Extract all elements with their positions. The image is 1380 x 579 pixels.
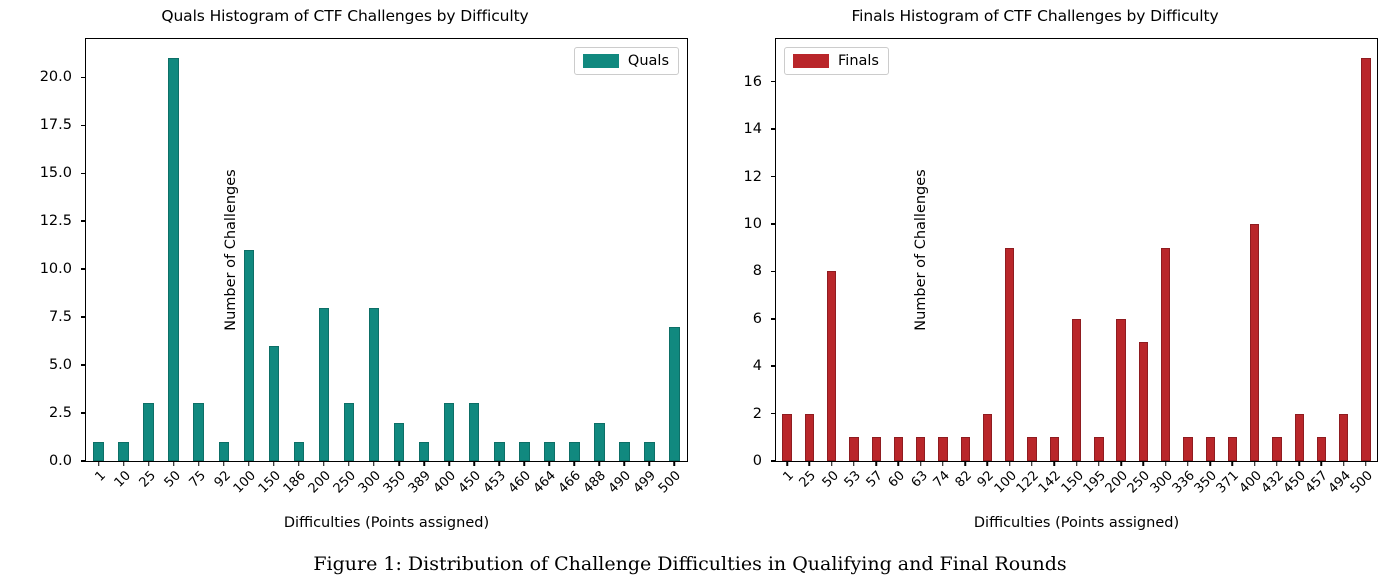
bar-slot [662, 39, 687, 461]
bar-slot [462, 39, 487, 461]
xtick-mark [1321, 461, 1323, 466]
bar-slot [1132, 39, 1154, 461]
xtick-label-quals-186: 186 [281, 469, 308, 496]
bar-finals-450 [1295, 414, 1304, 461]
bar-slot [562, 39, 587, 461]
bar-slot [1177, 39, 1199, 461]
legend-label-quals: Quals [628, 53, 669, 69]
xtick-label-finals-53: 53 [842, 469, 864, 491]
bar-finals-336 [1183, 437, 1192, 461]
xtick-label-quals-500: 500 [657, 469, 684, 496]
xtick-label-quals-1: 1 [93, 469, 109, 485]
xtick-mark [549, 461, 551, 466]
xtick-label-finals-60: 60 [887, 469, 909, 491]
bar-quals-500 [669, 327, 680, 461]
bar-quals-464 [544, 442, 555, 461]
bar-quals-490 [619, 442, 630, 461]
xtick-label-quals-300: 300 [356, 469, 383, 496]
bar-finals-500 [1361, 58, 1370, 461]
xtick-mark [1165, 461, 1167, 466]
xtick-label-finals-74: 74 [931, 469, 953, 491]
panel-quals: Quals Histogram of CTF Challenges by Dif… [0, 0, 690, 545]
xtick-label-quals-460: 460 [507, 469, 534, 496]
xtick-mark [523, 461, 525, 466]
xtick-mark [1254, 461, 1256, 466]
bar-finals-432 [1272, 437, 1281, 461]
bar-quals-499 [644, 442, 655, 461]
xtick-mark [448, 461, 450, 466]
bar-slot [1310, 39, 1332, 461]
xtick-label-quals-464: 464 [532, 469, 559, 496]
panel-finals-title: Finals Histogram of CTF Challenges by Di… [690, 6, 1380, 26]
bar-slot [1266, 39, 1288, 461]
bar-slot [1288, 39, 1310, 461]
xtick-mark [574, 461, 576, 466]
bar-quals-488 [594, 423, 605, 461]
xtick-mark [599, 461, 601, 466]
xtick-label-quals-450: 450 [457, 469, 484, 496]
xtick-label-finals-63: 63 [909, 469, 931, 491]
bar-slot [1333, 39, 1355, 461]
xtick-mark [1143, 461, 1145, 466]
xlabel-finals: Difficulties (Points assigned) [775, 514, 1378, 532]
bar-finals-250 [1139, 342, 1148, 461]
bar-slot [512, 39, 537, 461]
xtick-label-quals-50: 50 [162, 469, 184, 491]
xtick-label-quals-488: 488 [582, 469, 609, 496]
figure-container: Quals Histogram of CTF Challenges by Dif… [0, 0, 1380, 579]
panel-quals-title: Quals Histogram of CTF Challenges by Dif… [0, 6, 690, 26]
bar-slot [1155, 39, 1177, 461]
xtick-label-finals-50: 50 [820, 469, 842, 491]
xtick-label-finals-1: 1 [781, 469, 797, 485]
bar-finals-371 [1228, 437, 1237, 461]
bar-slot [487, 39, 512, 461]
xtick-label-quals-75: 75 [187, 469, 209, 491]
bar-slot [1199, 39, 1221, 461]
bar-slot [612, 39, 637, 461]
bar-slot [537, 39, 562, 461]
xtick-mark [674, 461, 676, 466]
bar-finals-350 [1206, 437, 1215, 461]
bar-quals-450 [469, 403, 480, 461]
legend-swatch-quals [583, 54, 619, 68]
xtick-label-quals-389: 389 [407, 469, 434, 496]
xtick-label-quals-92: 92 [212, 469, 234, 491]
xtick-mark [473, 461, 475, 466]
xtick-label-quals-490: 490 [607, 469, 634, 496]
ylabel-quals: Number of Challenges [19, 38, 443, 462]
xtick-mark [1276, 461, 1278, 466]
xtick-mark [1343, 461, 1345, 466]
bar-quals-453 [494, 442, 505, 461]
xtick-mark [649, 461, 651, 466]
xtick-mark [1298, 461, 1300, 466]
xtick-mark [624, 461, 626, 466]
xtick-mark [1187, 461, 1189, 466]
bar-slot [1221, 39, 1243, 461]
xtick-label-quals-150: 150 [256, 469, 283, 496]
xtick-label-quals-100: 100 [231, 469, 258, 496]
bar-finals-300 [1161, 248, 1170, 461]
xtick-label-finals-57: 57 [864, 469, 886, 491]
xtick-label-quals-25: 25 [137, 469, 159, 491]
bar-quals-460 [519, 442, 530, 461]
xtick-mark [1209, 461, 1211, 466]
xtick-mark [1232, 461, 1234, 466]
bar-finals-494 [1339, 414, 1348, 461]
bar-slot [1355, 39, 1377, 461]
xtick-label-finals-25: 25 [798, 469, 820, 491]
bar-slot [637, 39, 662, 461]
bar-slot [587, 39, 612, 461]
bar-quals-466 [569, 442, 580, 461]
xtick-mark [498, 461, 500, 466]
xtick-label-quals-350: 350 [381, 469, 408, 496]
xtick-label-quals-250: 250 [331, 469, 358, 496]
xlabel-quals: Difficulties (Points assigned) [85, 514, 688, 532]
bar-finals-400 [1250, 224, 1259, 461]
bar-slot [1244, 39, 1266, 461]
xtick-label-quals-200: 200 [306, 469, 333, 496]
legend-quals: Quals [574, 47, 679, 75]
xtick-mark [1365, 461, 1367, 466]
xtick-label-quals-499: 499 [632, 469, 659, 496]
xtick-label-quals-400: 400 [432, 469, 459, 496]
panel-finals: Finals Histogram of CTF Challenges by Di… [690, 0, 1380, 545]
bar-finals-457 [1317, 437, 1326, 461]
bar-quals-400 [444, 403, 455, 461]
xtick-label-quals-466: 466 [557, 469, 584, 496]
xtick-label-quals-453: 453 [482, 469, 509, 496]
xtick-label-finals-82: 82 [954, 469, 976, 491]
ylabel-finals: Number of Challenges [709, 38, 1133, 462]
figure-caption: Figure 1: Distribution of Challenge Diff… [0, 552, 1380, 576]
xtick-label-finals-500: 500 [1348, 469, 1375, 496]
xtick-label-quals-10: 10 [112, 469, 134, 491]
